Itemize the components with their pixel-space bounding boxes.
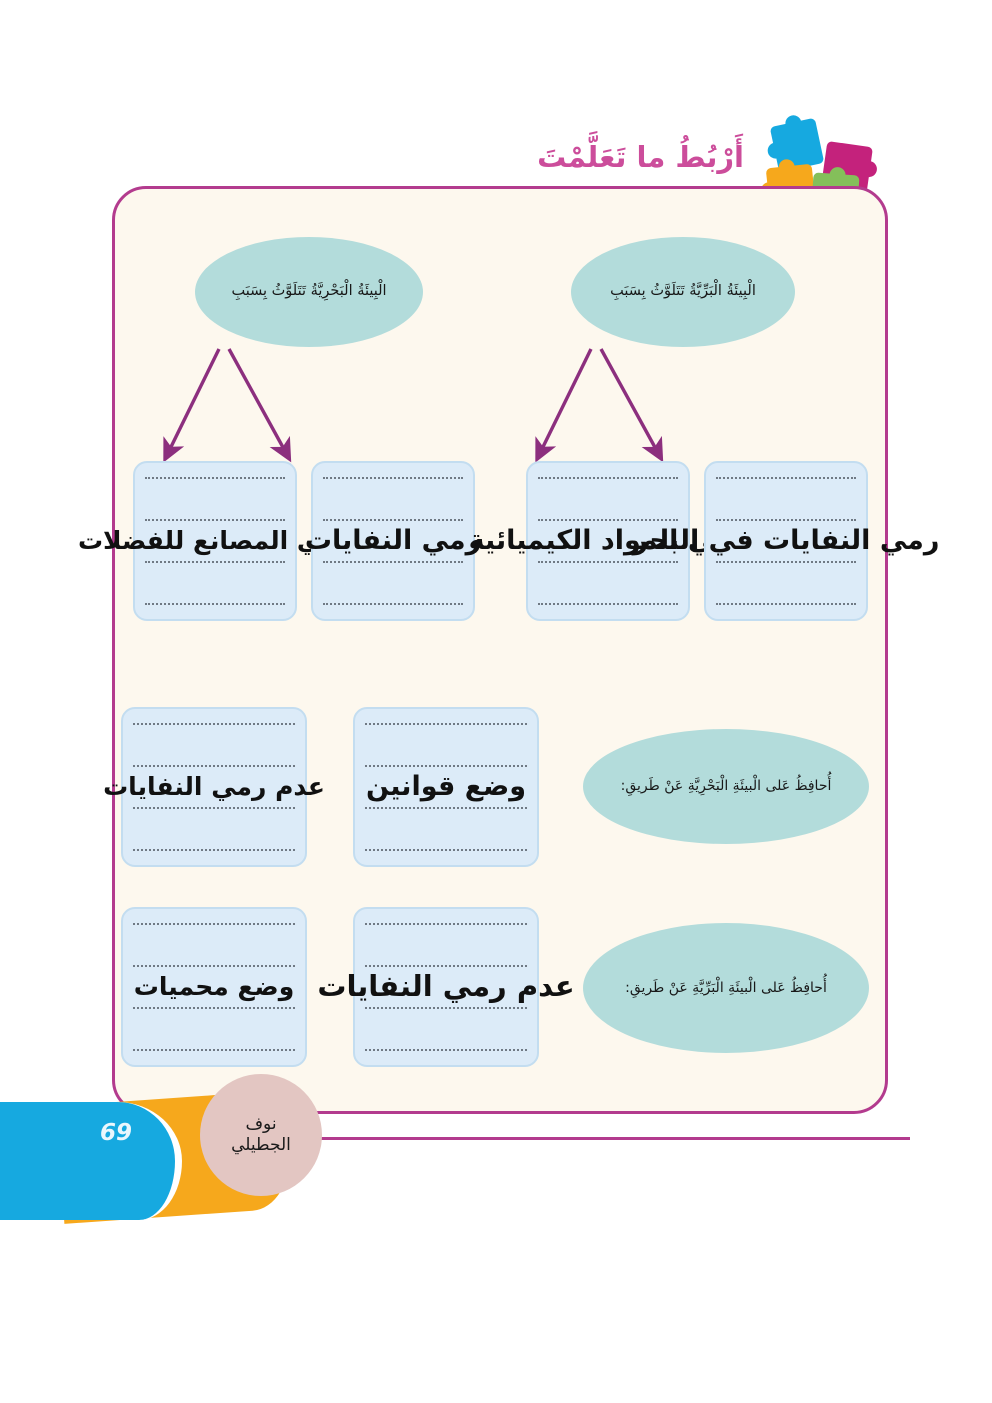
node-sea-pollution-cause-label: الْبِيئَةُ الْبَحْرِيَّةُ تَتَلَوَّثُ بِ… xyxy=(231,282,386,302)
answer-box-sea-waste[interactable]: رمي النفايات في البحر xyxy=(704,461,868,621)
answer-box-no-waste-sea[interactable]: عدم رمي النفايات xyxy=(121,707,307,867)
answer-box-sea-waste-text: رمي النفايات في البحر xyxy=(706,463,866,619)
answer-box-waste-text: رمي النفايات xyxy=(313,463,473,619)
node-protect-sea-environment-label: أُحافِظُ عَلى الْبيئَةِ الْبَحْرِيَّةِ ع… xyxy=(621,777,832,796)
author-badge: نوف الجطيلي xyxy=(200,1074,322,1196)
node-protect-sea-environment: أُحافِظُ عَلى الْبيئَةِ الْبَحْرِيَّةِ ع… xyxy=(583,729,869,844)
answer-box-reserves-text: وضع محميات xyxy=(123,909,305,1065)
node-protect-land-environment-label: أُحافِظُ عَلى الْبيئَةِ الْبَرِّيَّةِ عَ… xyxy=(625,979,827,998)
worksheet-page: أَرْبُطُ ما تَعَلَّمْتَ الْبِيئَةُ xyxy=(0,0,992,1403)
answer-box-laws-text: وضع قوانين xyxy=(355,709,537,865)
node-sea-pollution-cause: الْبِيئَةُ الْبَحْرِيَّةُ تَتَلَوَّثُ بِ… xyxy=(195,237,423,347)
node-land-pollution-cause-label: الْبِيئَةُ الْبَرِّيَّةُ تَتَلَوَّثُ بِس… xyxy=(610,282,756,302)
node-land-pollution-cause: الْبِيئَةُ الْبَرِّيَّةُ تَتَلَوَّثُ بِس… xyxy=(571,237,795,347)
footer: 69 نوف الجطيلي xyxy=(0,1080,420,1240)
answer-box-factories-text: رمي المصانع للفضلات xyxy=(135,463,295,619)
puzzle-piece-blue-icon xyxy=(770,118,825,173)
answer-box-factories[interactable]: رمي المصانع للفضلات xyxy=(133,461,297,621)
answer-box-no-waste-land[interactable]: عدم رمي النفايات xyxy=(353,907,539,1067)
page-number: 69 xyxy=(100,1120,132,1146)
activity-panel: الْبِيئَةُ الْبَرِّيَّةُ تَتَلَوَّثُ بِس… xyxy=(112,186,888,1114)
node-protect-land-environment: أُحافِظُ عَلى الْبيئَةِ الْبَرِّيَّةِ عَ… xyxy=(583,923,869,1053)
blue-swoosh-decoration xyxy=(0,1102,182,1220)
answer-box-no-waste-sea-text: عدم رمي النفايات xyxy=(123,709,305,865)
answer-box-laws[interactable]: وضع قوانين xyxy=(353,707,539,867)
answer-box-reserves[interactable]: وضع محميات xyxy=(121,907,307,1067)
page-title: أَرْبُطُ ما تَعَلَّمْتَ xyxy=(537,140,744,174)
answer-box-no-waste-land-text: عدم رمي النفايات xyxy=(355,909,537,1065)
author-name-line2: الجطيلي xyxy=(231,1135,291,1156)
author-name-line1: نوف xyxy=(245,1114,276,1135)
answer-box-waste[interactable]: رمي النفايات xyxy=(311,461,475,621)
